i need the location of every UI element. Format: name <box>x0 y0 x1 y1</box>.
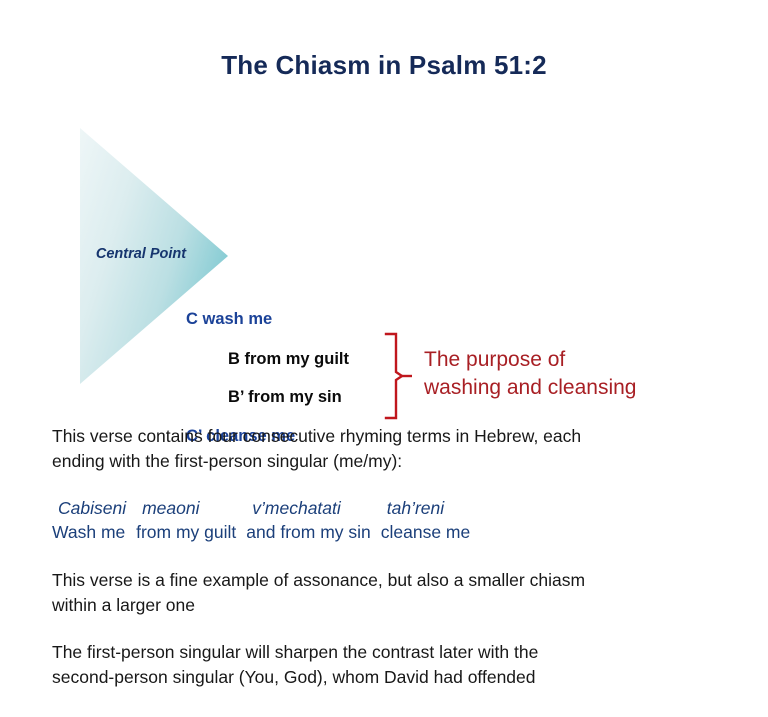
paragraph-contrast-line-2: second-person singular (You, God), whom … <box>52 665 742 690</box>
purpose-annotation-line-1: The purpose of <box>424 346 724 374</box>
paragraph-contrast: The first-person singular will sharpen t… <box>52 640 742 690</box>
chiasm-line-b: B from my guilt <box>228 350 349 369</box>
page-title: The Chiasm in Psalm 51:2 <box>0 50 768 81</box>
translit-cell-4: tah’reni <box>381 496 481 520</box>
chiasm-line-b-prime: B’ from my sin <box>228 388 342 407</box>
paragraph-intro-line-1: This verse contains four consecutive rhy… <box>52 424 742 449</box>
table-row-transliteration: Cabiseni meaoni v’mechatati tah’reni <box>52 496 480 520</box>
translit-cell-1: Cabiseni <box>52 496 136 520</box>
translit-cell-3: v’mechatati <box>246 496 380 520</box>
gloss-cell-3: and from my sin <box>246 520 380 544</box>
hebrew-gloss-table: Cabiseni meaoni v’mechatati tah’reni Was… <box>52 496 480 544</box>
paragraph-assonance-line-1: This verse is a fine example of assonanc… <box>52 568 742 593</box>
purpose-annotation: The purpose of washing and cleansing <box>424 346 724 402</box>
central-point-label: Central Point <box>78 246 204 262</box>
gloss-cell-2: from my guilt <box>136 520 246 544</box>
translit-cell-2: meaoni <box>136 496 246 520</box>
gloss-cell-1: Wash me <box>52 520 136 544</box>
chiasm-diagram: Central Point C wash me B from my guilt … <box>0 120 768 400</box>
curly-brace-icon <box>372 332 412 420</box>
paragraph-assonance: This verse is a fine example of assonanc… <box>52 568 742 618</box>
table-row-translation: Wash me from my guilt and from my sin cl… <box>52 520 480 544</box>
paragraph-assonance-line-2: within a larger one <box>52 593 742 618</box>
gloss-cell-4: cleanse me <box>381 520 481 544</box>
chiasm-line-c: C wash me <box>186 310 272 329</box>
paragraph-intro: This verse contains four consecutive rhy… <box>52 424 742 474</box>
body-copy: This verse contains four consecutive rhy… <box>52 424 742 712</box>
paragraph-contrast-line-1: The first-person singular will sharpen t… <box>52 640 742 665</box>
paragraph-intro-line-2: ending with the first-person singular (m… <box>52 449 742 474</box>
purpose-annotation-line-2: washing and cleansing <box>424 374 724 402</box>
